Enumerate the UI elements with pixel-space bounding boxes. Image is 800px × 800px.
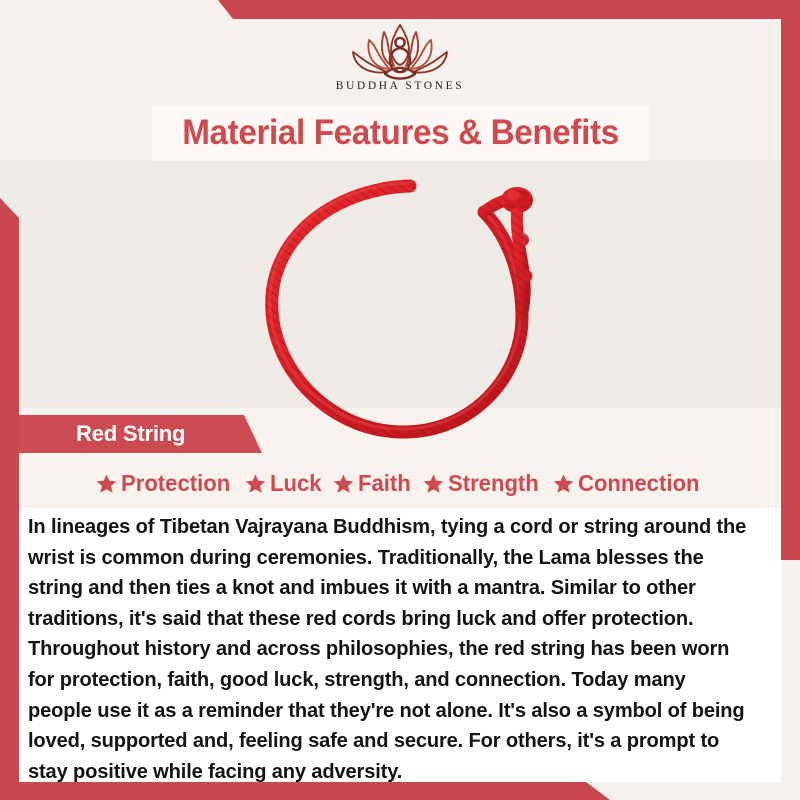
product-photo (222, 168, 580, 450)
feature-item: Connection (553, 470, 705, 497)
brand-logo: BUDDHA STONES (0, 20, 800, 102)
feature-item: Protection (96, 470, 235, 497)
brand-name: BUDDHA STONES (336, 80, 464, 92)
star-icon (553, 473, 574, 494)
decorative-band-top (0, 0, 800, 19)
lotus-meditation-icon (327, 20, 473, 82)
feature-label: Connection (578, 470, 699, 497)
star-icon (96, 473, 117, 494)
feature-item: Strength (423, 470, 543, 497)
feature-label: Strength (448, 470, 539, 497)
feature-label: Luck (270, 470, 322, 497)
feature-label: Protection (121, 470, 230, 497)
product-label-banner: Red String (19, 415, 262, 453)
feature-item: Faith (333, 470, 413, 497)
product-label: Red String (76, 421, 185, 447)
feature-item: Luck (245, 470, 324, 497)
page-title: Material Features & Benefits (164, 105, 636, 161)
infographic-page: BUDDHA STONES Material Features & Benefi… (0, 0, 800, 800)
features-list: Protection Luck Faith Strength Connectio… (19, 462, 781, 504)
star-icon (423, 473, 444, 494)
decorative-band-left (0, 196, 19, 800)
feature-label: Faith (358, 470, 411, 497)
description-text: In lineages of Tibetan Vajrayana Buddhis… (28, 512, 753, 787)
star-icon (333, 473, 354, 494)
star-icon (245, 473, 266, 494)
